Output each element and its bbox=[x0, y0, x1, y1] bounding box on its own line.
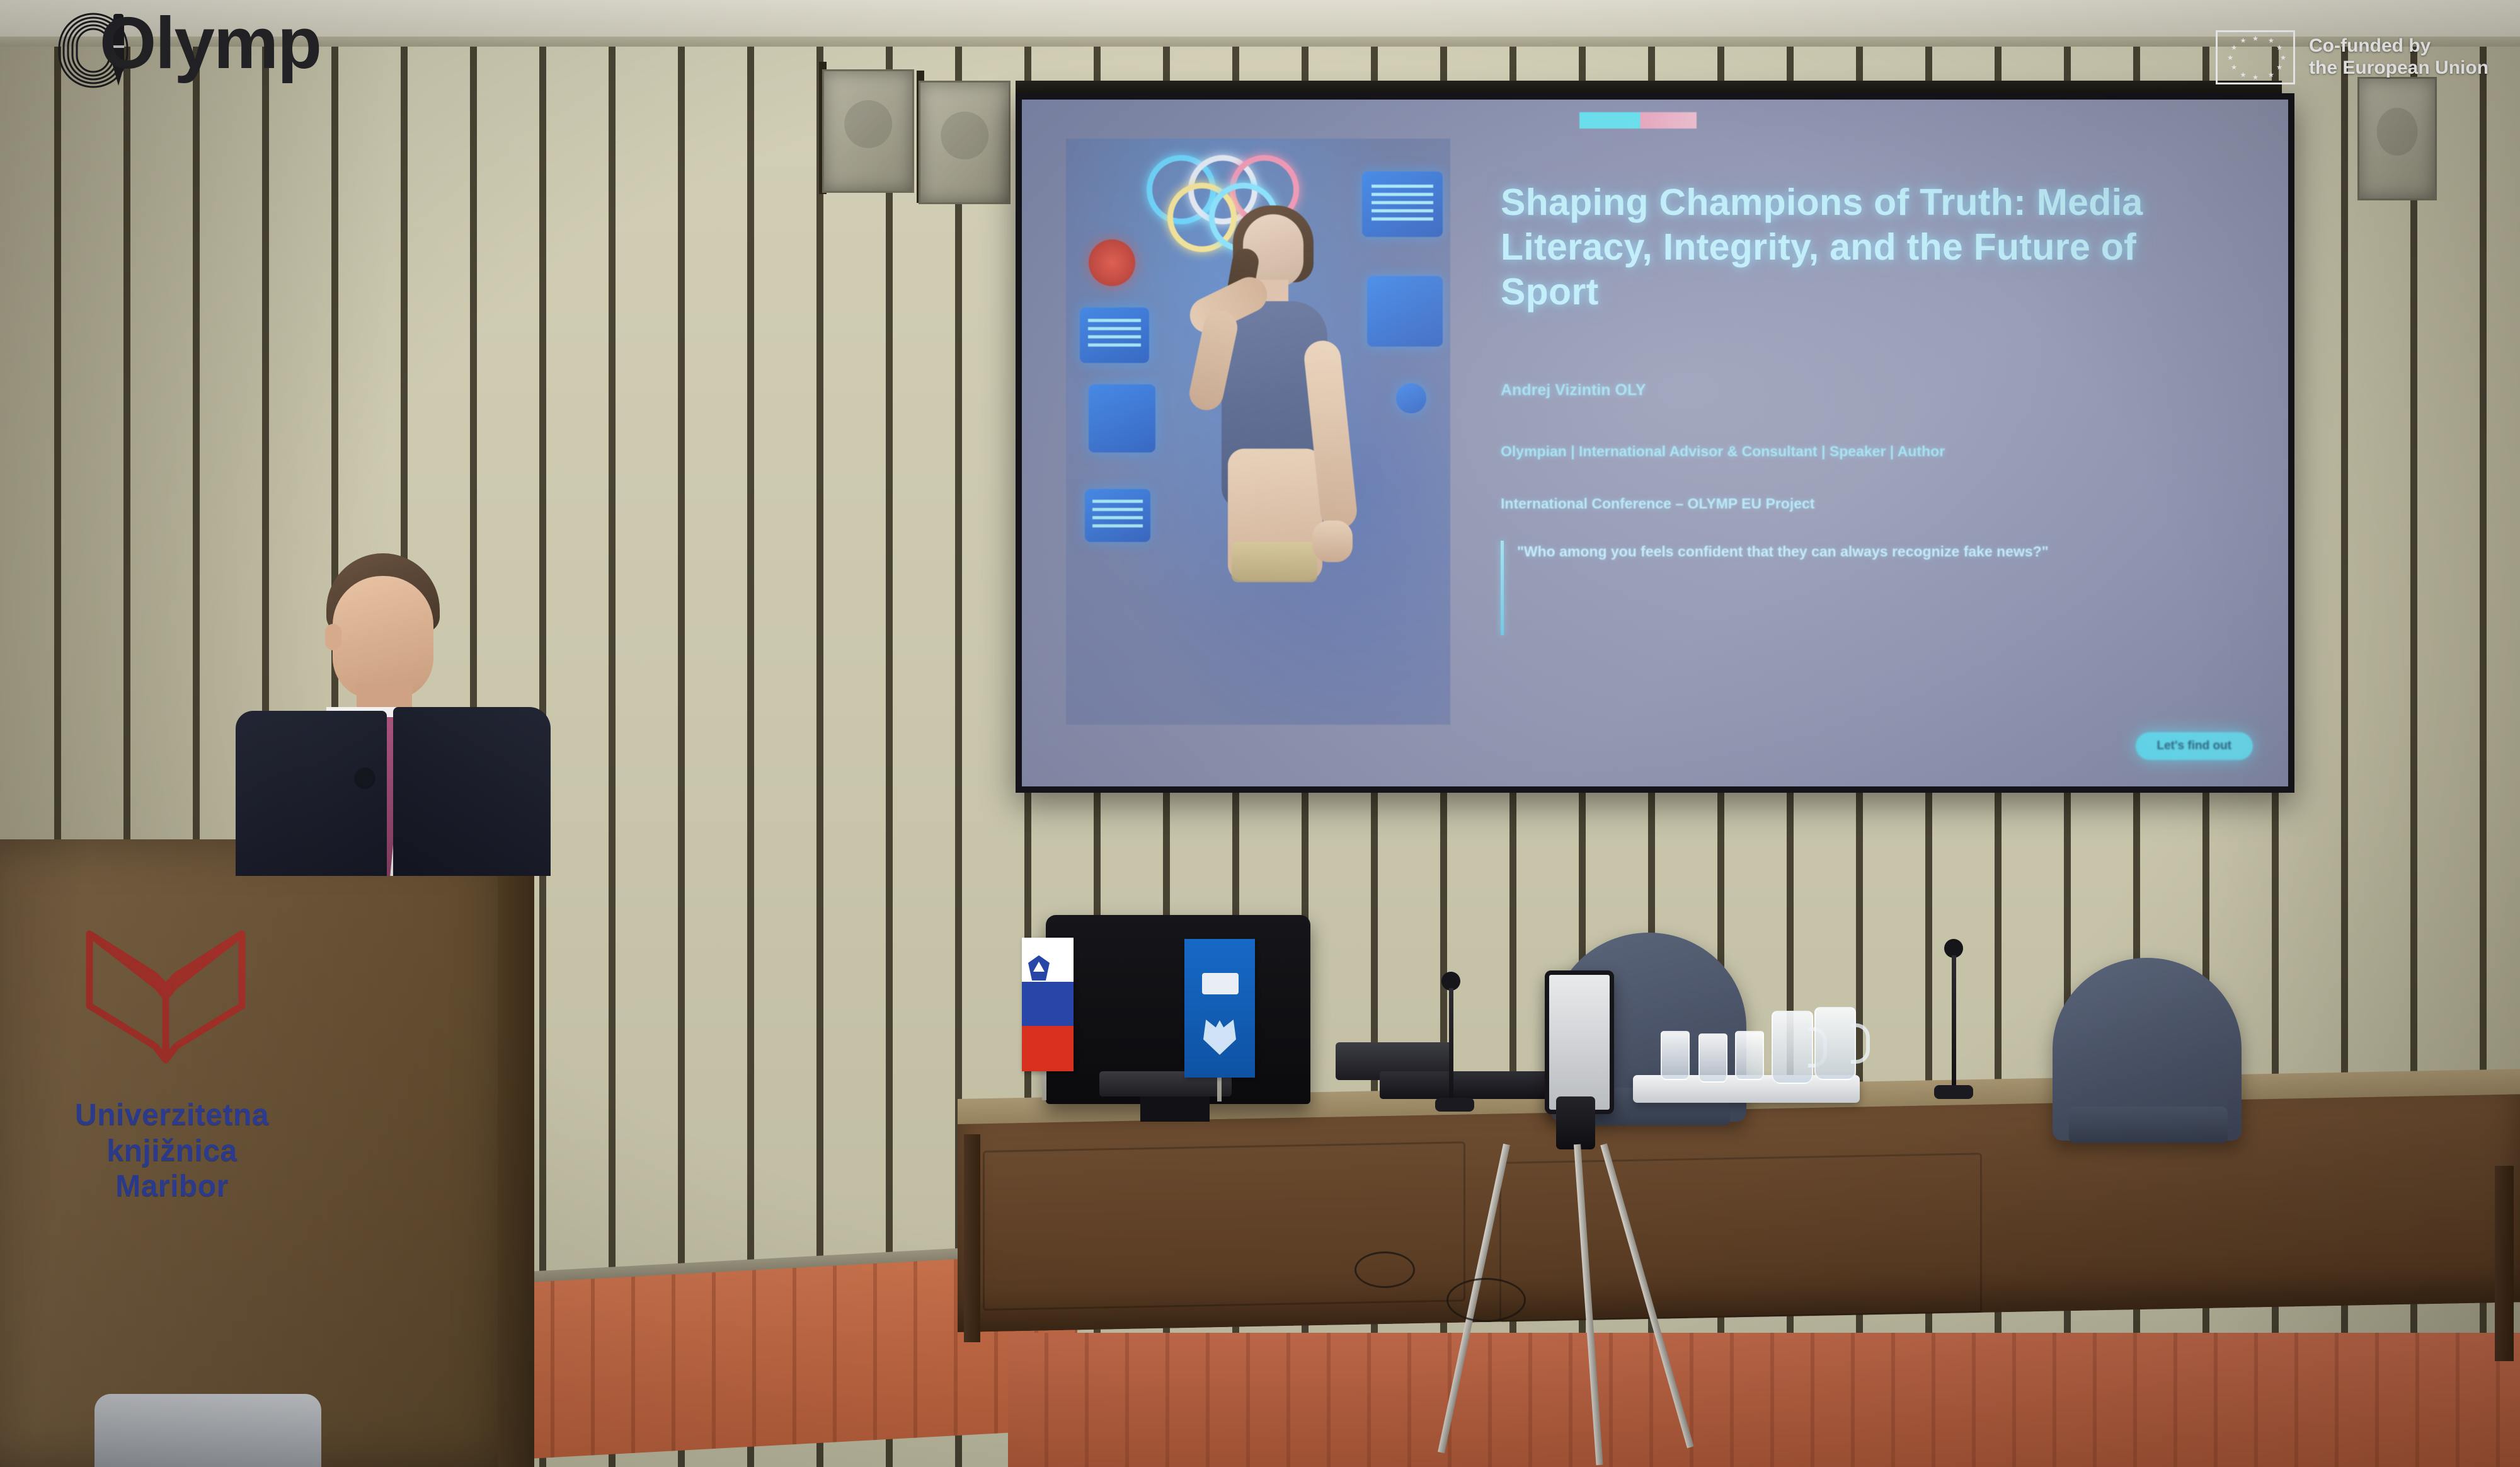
av-mixer-unit bbox=[1380, 1071, 1556, 1099]
eu-funding-badge: Co-funded by the European Union bbox=[2207, 24, 2502, 91]
monitor-stand bbox=[1140, 1096, 1210, 1122]
lapel-microphone-icon bbox=[357, 770, 373, 786]
speaker-jacket-right bbox=[393, 707, 551, 876]
flag-maribor bbox=[1184, 939, 1255, 1078]
table-front-panel-right bbox=[1499, 1153, 1982, 1322]
water-carafe bbox=[1772, 1011, 1813, 1084]
podium-right-edge bbox=[498, 870, 534, 1467]
audience-chair-foreground bbox=[94, 1394, 321, 1467]
projection-screen: Shaping Champions of Truth: Media Litera… bbox=[1016, 93, 2294, 793]
water-glass bbox=[1661, 1031, 1690, 1080]
speaker-jacket-left bbox=[236, 711, 387, 876]
university-library-logo bbox=[81, 926, 251, 1071]
olymp-logo: Olymp bbox=[19, 3, 309, 91]
podium-library-name: Univerzitetna knjižnica Maribor bbox=[24, 1098, 320, 1205]
recording-tablet bbox=[1545, 970, 1614, 1114]
microphone-base-left bbox=[1435, 1098, 1474, 1112]
flag-slovenia bbox=[1022, 938, 1074, 1071]
projector-light-wash bbox=[1022, 100, 2288, 786]
speaker-ear bbox=[325, 624, 341, 650]
podium-line-3: Maribor bbox=[24, 1169, 320, 1205]
microphone-stem-right bbox=[1952, 955, 1956, 1089]
eu-badge-text: Co-funded by the European Union bbox=[2309, 35, 2488, 79]
wall-speaker-right bbox=[919, 81, 1011, 204]
table-leg-right bbox=[2495, 1166, 2514, 1361]
podium-line-1: Univerzitetna bbox=[24, 1098, 320, 1134]
eu-badge-line-1: Co-funded by bbox=[2309, 35, 2488, 57]
microphone-stem-left bbox=[1449, 988, 1453, 1102]
maribor-flag-band bbox=[1202, 973, 1239, 994]
cable-loop bbox=[1354, 1251, 1415, 1288]
wall-speaker-far-right bbox=[2357, 77, 2437, 200]
table-leg-left bbox=[964, 1134, 980, 1342]
presentation-slide: Shaping Champions of Truth: Media Litera… bbox=[1022, 100, 2288, 786]
speaker-head bbox=[333, 576, 433, 699]
eu-badge-line-2: the European Union bbox=[2309, 57, 2488, 79]
conference-photo: Shaping Champions of Truth: Media Litera… bbox=[0, 0, 2520, 1467]
water-glass bbox=[1698, 1033, 1727, 1083]
water-carafe bbox=[1814, 1007, 1856, 1080]
podium-line-2: knjižnica bbox=[24, 1134, 320, 1170]
olymp-wordmark: Olymp bbox=[100, 6, 321, 79]
eu-flag-icon bbox=[2216, 30, 2295, 84]
speaker-person bbox=[220, 548, 573, 876]
wall-speaker-left bbox=[822, 69, 914, 193]
cable-coil bbox=[1446, 1278, 1526, 1322]
wainscot-panel-right bbox=[1008, 1333, 2520, 1467]
tripod-head bbox=[1556, 1096, 1595, 1149]
microphone-base-right bbox=[1934, 1085, 1973, 1099]
chair-right-seat bbox=[2069, 1107, 2228, 1143]
water-glass bbox=[1735, 1031, 1764, 1080]
